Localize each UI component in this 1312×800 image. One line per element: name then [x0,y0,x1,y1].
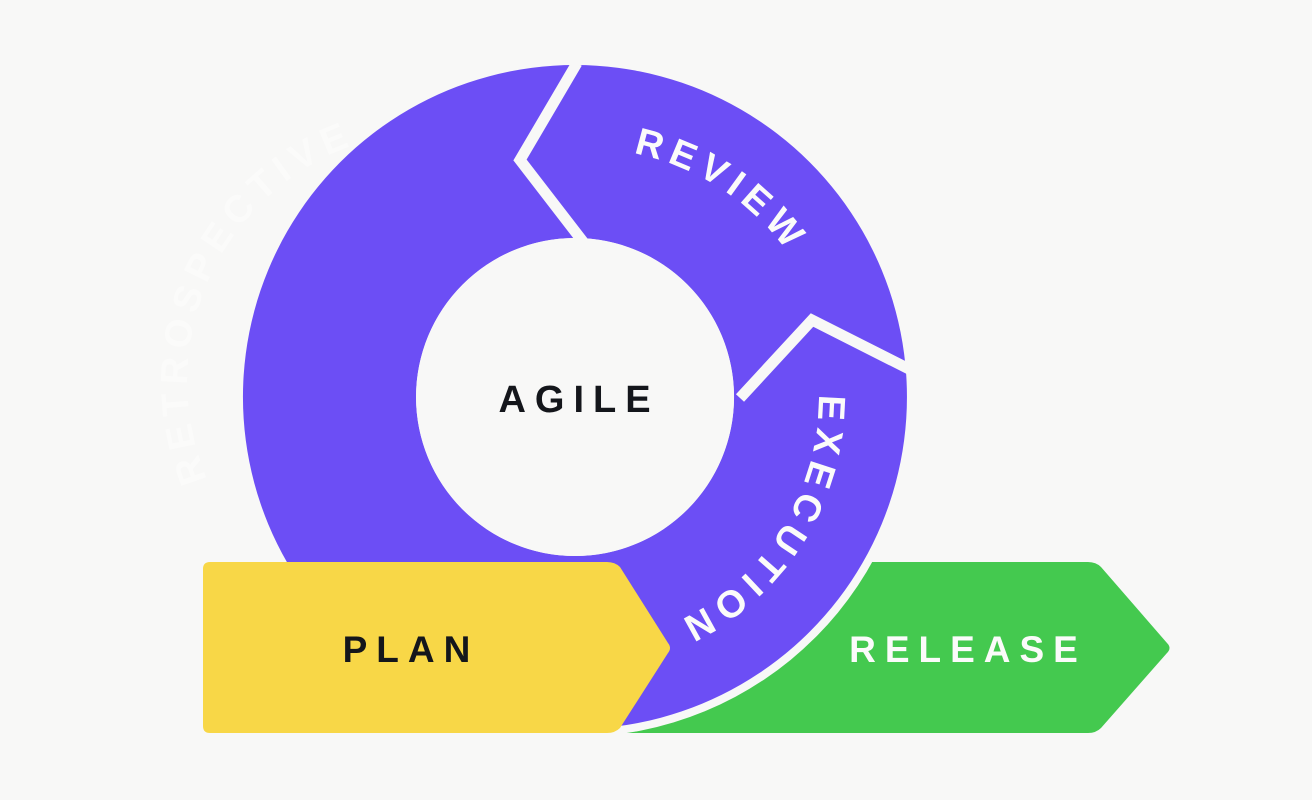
plan-bar-group: PLAN [203,562,670,733]
agile-cycle-diagram: RETROSPECTIVE REVIEW EXECUTION RELEASE P… [0,0,1312,800]
agile-diagram-canvas: RETROSPECTIVE REVIEW EXECUTION RELEASE P… [0,0,1312,800]
agile-center-label: AGILE [498,379,659,421]
plan-bar-label: PLAN [343,629,480,670]
release-bar-label: RELEASE [849,629,1087,670]
